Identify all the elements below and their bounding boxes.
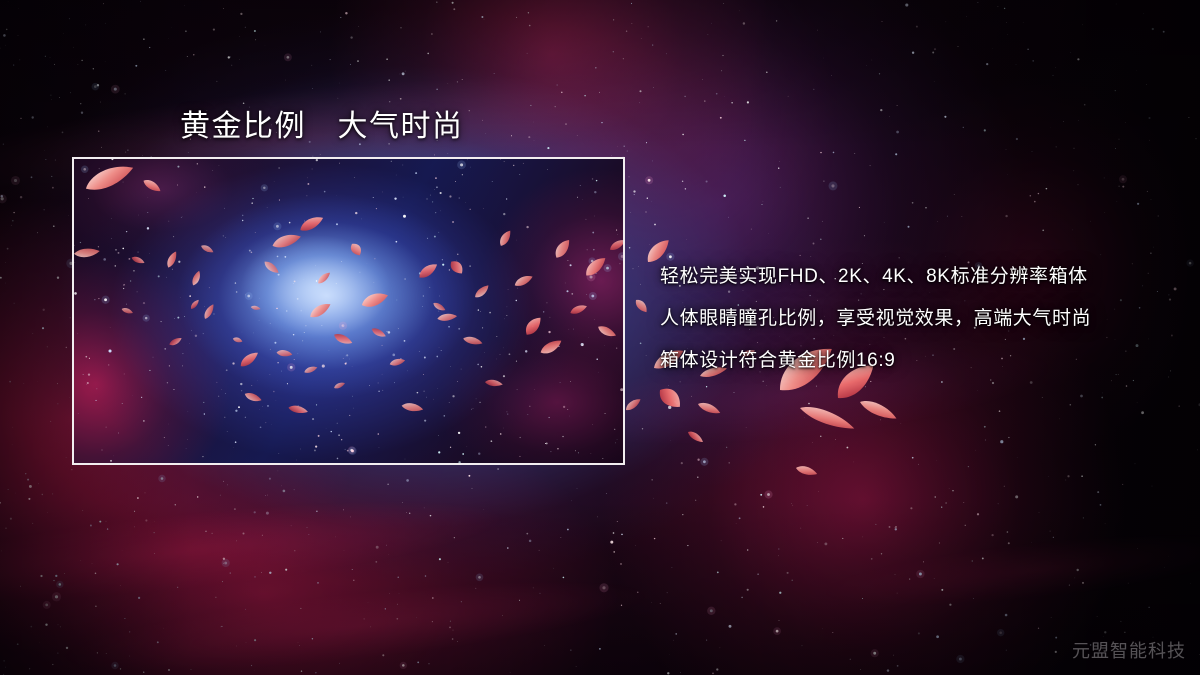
panel-starfield (74, 159, 623, 463)
framed-image-panel[interactable] (72, 157, 625, 465)
body-text-block: 轻松完美实现FHD、2K、4K、8K标准分辨率箱体 人体眼睛瞳孔比例，享受视觉效… (660, 256, 1180, 382)
body-line-2: 人体眼睛瞳孔比例，享受视觉效果，高端大气时尚 (660, 298, 1180, 340)
body-line-1: 轻松完美实现FHD、2K、4K、8K标准分辨率箱体 (660, 256, 1180, 298)
slide-canvas: 黄金比例 大气时尚 轻松完美实现FHD、2K、4K、8K标准分辨率箱体 人体眼睛… (0, 0, 1200, 675)
body-line-3: 箱体设计符合黄金比例16:9 (660, 340, 1180, 382)
watermark: 元盟智能科技 (1072, 637, 1186, 663)
page-title: 黄金比例 大气时尚 (180, 101, 464, 145)
